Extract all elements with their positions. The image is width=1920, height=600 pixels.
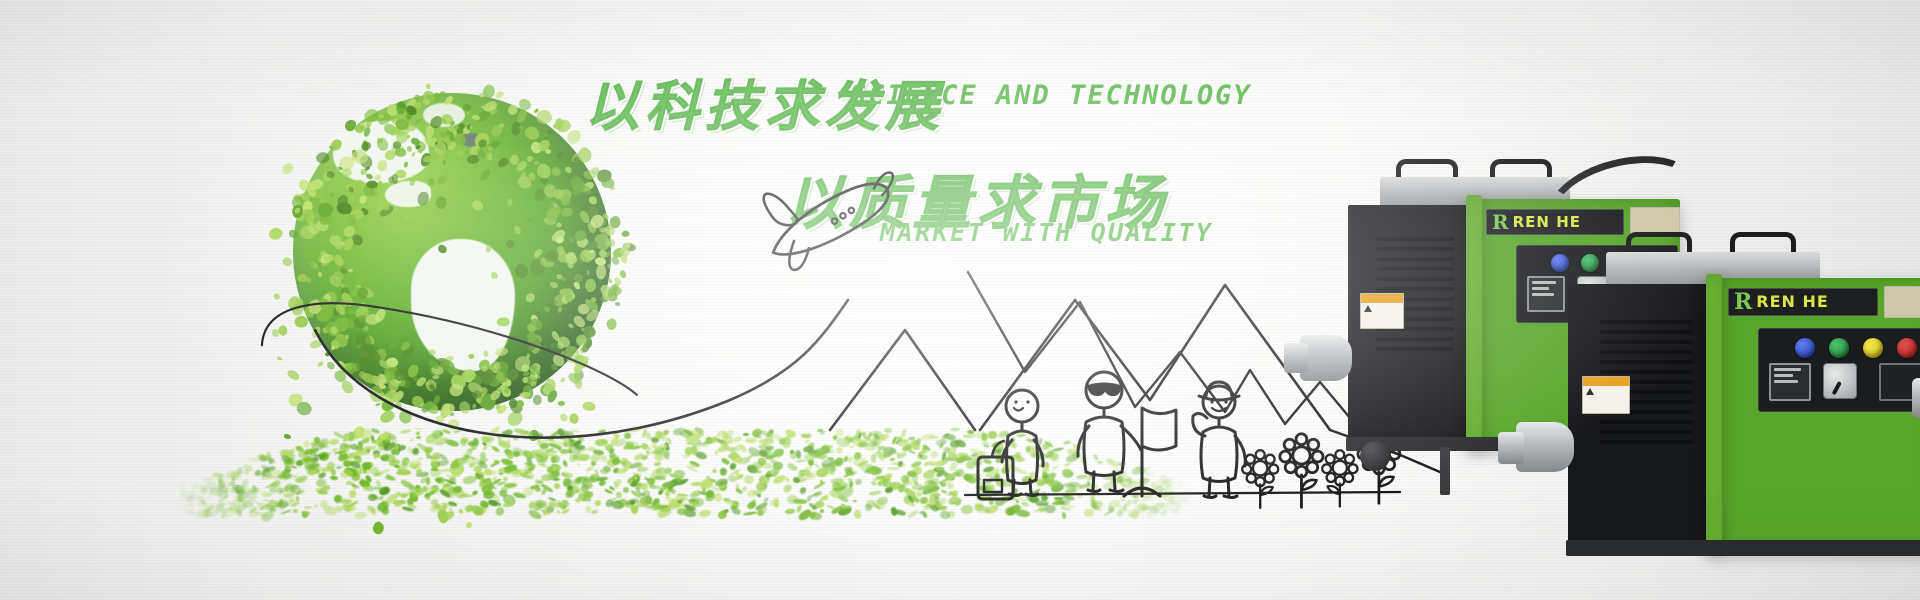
grass-fleck <box>743 433 749 436</box>
grass-fleck <box>362 485 370 492</box>
grass-fleck <box>950 428 960 431</box>
grass-fleck <box>594 500 601 507</box>
leaf-fleck <box>425 83 432 90</box>
leaf-fleck <box>517 400 525 408</box>
grass-fleck <box>1097 461 1103 464</box>
grass-fleck <box>825 497 829 501</box>
grass-fleck <box>820 509 825 513</box>
grass-fleck <box>399 429 410 434</box>
grass-fleck <box>1159 509 1167 517</box>
grass-fleck <box>378 495 384 500</box>
grass-fleck <box>699 509 712 517</box>
grass-fleck <box>963 434 971 438</box>
grass-fleck <box>409 438 414 443</box>
grass-fleck <box>942 471 947 477</box>
leaf-fleck <box>326 361 336 370</box>
grass-fleck <box>561 470 574 479</box>
grass-fleck <box>208 503 217 509</box>
grass-fleck <box>786 461 798 471</box>
grass-fleck <box>304 506 312 509</box>
grass-fleck <box>292 508 298 513</box>
grass-fleck <box>562 430 574 437</box>
grass-fleck <box>1052 464 1060 470</box>
grass-fleck <box>849 445 855 449</box>
grass-fleck <box>845 471 857 475</box>
grass-fleck <box>828 445 833 449</box>
grass-fleck <box>890 457 895 461</box>
leaf-fleck <box>527 155 533 161</box>
grass-fleck <box>498 503 501 506</box>
grass-fleck <box>712 469 717 474</box>
grass-fleck <box>393 500 401 507</box>
leaf-fleck <box>567 412 580 425</box>
leaf-fleck <box>273 293 280 299</box>
grass-fleck <box>1077 492 1083 499</box>
grass-fleck <box>732 436 742 444</box>
grass-fleck <box>254 469 261 476</box>
grass-strip <box>175 428 1185 512</box>
grass-fleck <box>990 491 1003 497</box>
leaf-fleck <box>435 415 445 425</box>
grass-fleck <box>185 503 192 507</box>
grass-fleck <box>662 428 670 435</box>
grass-fleck <box>795 450 801 459</box>
grass-fleck <box>885 487 894 494</box>
control-panel[interactable] <box>1758 328 1920 412</box>
grass-fleck <box>372 453 378 460</box>
grass-fleck <box>591 509 598 514</box>
grass-fleck <box>416 435 421 438</box>
leaf-fleck <box>589 249 594 253</box>
grass-fleck <box>512 451 519 457</box>
leaf-fleck <box>267 225 285 243</box>
leaf-fleck <box>615 302 620 306</box>
grass-fleck <box>1062 511 1067 518</box>
headline-english-line-2: MARKET WITH QUALITY <box>880 218 1213 247</box>
spec-label-sticker <box>1884 286 1920 318</box>
grass-fleck <box>586 506 591 513</box>
leaf-fleck <box>605 317 618 331</box>
grass-fleck <box>756 493 761 498</box>
grass-fleck <box>472 468 479 473</box>
flower-doodle-1 <box>1242 450 1278 508</box>
leaf-fleck <box>317 361 324 368</box>
grass-fleck <box>802 434 807 437</box>
grass-fleck <box>1015 433 1025 437</box>
grass-fleck <box>713 492 722 502</box>
grass-fleck <box>921 433 936 441</box>
grass-fleck <box>1004 506 1016 517</box>
leaf-fleck <box>526 218 532 222</box>
leaf-fleck <box>589 196 597 205</box>
leaf-fleck <box>443 160 446 165</box>
grass-fleck <box>345 432 360 443</box>
panel-button-green[interactable] <box>1829 338 1849 358</box>
grass-fleck <box>940 489 946 493</box>
leaf-fleck <box>324 352 329 357</box>
grass-fleck <box>730 506 742 517</box>
machine-green-side <box>1706 274 1722 550</box>
grass-fleck <box>541 487 548 495</box>
grass-fleck <box>573 455 579 459</box>
leaf-fleck <box>559 412 569 421</box>
leaf-fleck <box>557 401 565 407</box>
grass-fleck <box>415 428 423 431</box>
grass-fleck <box>530 473 535 480</box>
panel-button-red[interactable] <box>1897 338 1917 358</box>
grass-fleck <box>868 490 881 495</box>
grass-fleck <box>337 448 349 455</box>
grass-fleck <box>458 509 464 515</box>
grass-fleck <box>482 431 488 434</box>
grass-fleck <box>1018 469 1029 475</box>
grass-fleck <box>743 511 757 516</box>
grass-fleck <box>1061 467 1074 478</box>
grass-fleck <box>512 435 519 441</box>
panel-button-yellow[interactable] <box>1863 338 1883 358</box>
grass-fleck <box>553 483 560 491</box>
grass-fleck <box>617 466 630 474</box>
grass-fleck <box>961 504 973 513</box>
grass-fleck <box>947 492 955 495</box>
grass-fleck <box>398 469 411 476</box>
grass-fleck <box>764 481 770 485</box>
leaf-fleck <box>375 402 381 407</box>
grass-fleck <box>852 509 861 519</box>
leaf-fleck <box>319 250 326 257</box>
grass-fleck <box>179 481 187 489</box>
caster-wheel[interactable] <box>1360 441 1390 471</box>
grass-fleck <box>575 444 586 449</box>
leaf-fleck <box>494 89 505 100</box>
leaf-fleck <box>472 403 476 408</box>
support-leg <box>1440 447 1450 495</box>
leaf-fleck <box>407 146 413 152</box>
grass-fleck <box>490 461 499 468</box>
selector-knob[interactable] <box>1823 363 1857 399</box>
grass-fleck <box>1105 457 1119 469</box>
grass-fleck <box>236 490 245 496</box>
grass-fleck <box>853 500 857 502</box>
grass-fleck <box>826 504 836 510</box>
leaf-fleck <box>583 402 596 411</box>
grass-fleck <box>362 462 372 470</box>
grass-fleck <box>682 455 689 459</box>
leaf-fleck <box>560 377 566 383</box>
headline-english-line-1: SCIENCE AND TECHNOLOGY <box>850 80 1252 111</box>
nozzle-cone <box>1498 432 1524 464</box>
grass-fleck <box>1026 438 1035 444</box>
brand-logo-icon: R <box>1492 212 1509 232</box>
grass-fleck <box>439 468 453 472</box>
grass-fleck <box>796 460 806 463</box>
leaf-fleck <box>583 169 597 179</box>
grass-fleck <box>354 512 367 520</box>
leaf-fleck <box>397 407 415 425</box>
leaf-fleck <box>347 310 354 315</box>
grass-fleck <box>981 440 989 448</box>
grass-fleck <box>742 474 754 485</box>
leaf-fleck <box>413 377 418 381</box>
grass-fleck <box>782 483 793 493</box>
grass-fleck <box>269 459 275 464</box>
grass-fleck <box>586 465 595 472</box>
leaf-fleck <box>514 356 530 371</box>
grass-fleck <box>624 433 631 439</box>
grass-fleck <box>296 495 300 502</box>
leaf-fleck <box>483 350 489 356</box>
panel-button-blue[interactable] <box>1795 338 1815 358</box>
leaf-fleck <box>621 230 630 237</box>
grass-fleck <box>774 498 779 507</box>
leaf-fleck <box>531 394 543 406</box>
grass-fleck <box>976 431 981 439</box>
grass-fleck <box>779 438 786 445</box>
grass-fleck <box>575 497 583 502</box>
leaf-fleck <box>464 521 472 529</box>
grass-fleck <box>931 460 944 467</box>
grass-fleck <box>804 453 816 462</box>
grass-fleck <box>543 508 548 517</box>
grass-fleck <box>1084 508 1095 517</box>
grass-fleck <box>424 447 434 454</box>
leaf-fleck <box>620 247 630 256</box>
grass-fleck <box>579 453 591 461</box>
side-outlet <box>1912 378 1920 418</box>
grass-fleck <box>1081 456 1087 464</box>
leaf-fleck <box>547 130 552 134</box>
leaf-fleck <box>370 520 385 536</box>
grass-fleck <box>826 450 835 454</box>
grass-fleck <box>453 429 462 434</box>
warning-sticker-bar <box>1361 294 1403 303</box>
grass-fleck <box>921 512 927 519</box>
machine-green-side <box>1466 195 1482 447</box>
brand-name-label: REN HE <box>1756 294 1829 310</box>
grass-fleck <box>799 486 807 495</box>
grass-fleck <box>348 489 357 499</box>
grass-fleck <box>434 477 442 482</box>
grass-fleck <box>283 473 293 480</box>
grass-fleck <box>908 450 916 455</box>
leaf-fleck <box>277 357 282 361</box>
leaf-fleck <box>286 368 301 381</box>
grass-fleck <box>900 463 906 466</box>
nozzle-cone <box>1284 343 1308 373</box>
grass-fleck <box>336 466 342 470</box>
grass-fleck <box>482 491 494 499</box>
grass-fleck <box>325 491 329 494</box>
grass-fleck <box>503 477 508 481</box>
grass-fleck <box>1063 462 1071 467</box>
warning-triangle-icon <box>1586 388 1594 395</box>
grass-fleck <box>703 445 709 447</box>
grass-fleck <box>745 438 756 443</box>
brand-plate: R REN HE <box>1728 288 1878 316</box>
machine-base-frame <box>1566 540 1920 556</box>
grass-fleck <box>858 442 869 447</box>
leaf-fleck <box>618 269 627 279</box>
grass-fleck <box>863 503 872 513</box>
grass-fleck <box>690 446 696 455</box>
grass-fleck <box>907 509 920 519</box>
outlet-nozzle <box>1516 422 1574 472</box>
grass-fleck <box>562 460 568 467</box>
grass-fleck <box>368 493 377 501</box>
grass-fleck <box>877 496 889 505</box>
brand-logo-icon: R <box>1734 291 1752 313</box>
warning-sticker <box>1582 376 1630 414</box>
grass-fleck <box>296 445 302 451</box>
grass-fleck <box>494 506 505 517</box>
grass-fleck <box>1118 463 1122 467</box>
grass-fleck <box>285 464 294 469</box>
warning-sticker-bar <box>1583 377 1629 386</box>
leaf-fleck <box>343 226 354 237</box>
grass-fleck <box>929 450 939 460</box>
grass-fleck <box>613 478 623 489</box>
grass-fleck <box>503 483 516 488</box>
grass-fleck <box>999 430 1010 438</box>
grass-fleck <box>746 489 756 497</box>
grass-fleck <box>855 478 863 486</box>
grass-fleck <box>670 488 676 494</box>
grass-fleck <box>1000 479 1013 488</box>
warning-sticker <box>1360 293 1404 329</box>
product-machine-right[interactable]: R REN HE <box>1560 250 1920 600</box>
grass-fleck <box>1073 446 1084 450</box>
grass-fleck <box>1012 442 1018 449</box>
machine-green-body <box>1710 278 1920 550</box>
grass-fleck <box>835 447 843 455</box>
grass-fleck <box>329 439 340 446</box>
grass-fleck <box>736 459 743 465</box>
leaf-fleck <box>281 255 293 267</box>
grass-fleck <box>1059 496 1070 506</box>
grass-fleck <box>576 462 580 466</box>
grass-fleck <box>514 427 528 435</box>
figure-with-hat <box>1193 382 1246 498</box>
promo-banner: 以科技求发展 SCIENCE AND TECHNOLOGY 以质量求市场 MAR… <box>0 0 1920 600</box>
grass-fleck <box>597 430 605 435</box>
leaf-fleck <box>595 264 606 279</box>
grass-fleck <box>553 478 560 481</box>
flower-doodle-2 <box>1280 434 1323 507</box>
digital-display <box>1769 363 1811 401</box>
warning-triangle-icon <box>1364 305 1372 312</box>
grass-fleck <box>880 435 887 441</box>
leaf-fleck <box>491 272 498 279</box>
leaf-fleck <box>566 128 583 145</box>
grass-fleck <box>438 459 450 467</box>
grass-fleck <box>982 457 992 465</box>
grass-fleck <box>987 430 997 439</box>
grass-fleck <box>1045 461 1050 467</box>
leaf-fleck <box>394 401 402 409</box>
grass-fleck <box>622 486 630 494</box>
grass-fleck <box>313 504 317 507</box>
leaf-fleck <box>566 252 576 260</box>
grass-fleck <box>894 509 907 518</box>
leaf-fleck <box>281 161 296 176</box>
grass-fleck <box>502 501 514 508</box>
grass-fleck <box>887 467 900 470</box>
grass-fleck <box>1063 440 1071 444</box>
grass-fleck <box>815 466 830 477</box>
